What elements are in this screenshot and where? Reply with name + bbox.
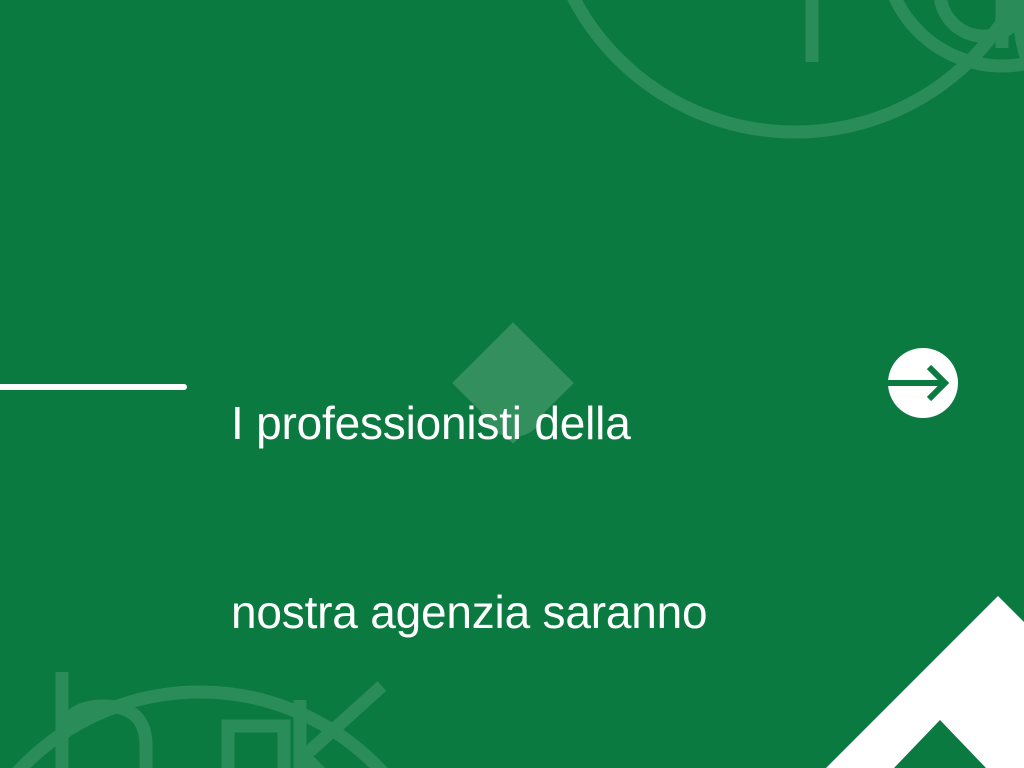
headline-line-1: I professionisti della	[231, 392, 871, 455]
arrow-right-icon	[888, 348, 958, 418]
headline: I professionisti della nostra agenzia sa…	[231, 266, 871, 768]
wm-arc-right	[1020, 0, 1024, 143]
roof-path	[826, 596, 1024, 768]
wm-arc-medium	[884, 0, 1024, 66]
next-button[interactable]	[888, 348, 958, 418]
wm-arc-large	[545, 0, 1024, 132]
slide-canvas: I professionisti della nostra agenzia sa…	[0, 0, 1024, 768]
roof-shape	[806, 596, 1024, 768]
headline-line-2: nostra agenzia saranno	[231, 581, 871, 644]
horizontal-rule	[0, 384, 187, 390]
wm-bl-shoulder	[62, 706, 146, 768]
wm-hook	[940, 0, 1024, 36]
